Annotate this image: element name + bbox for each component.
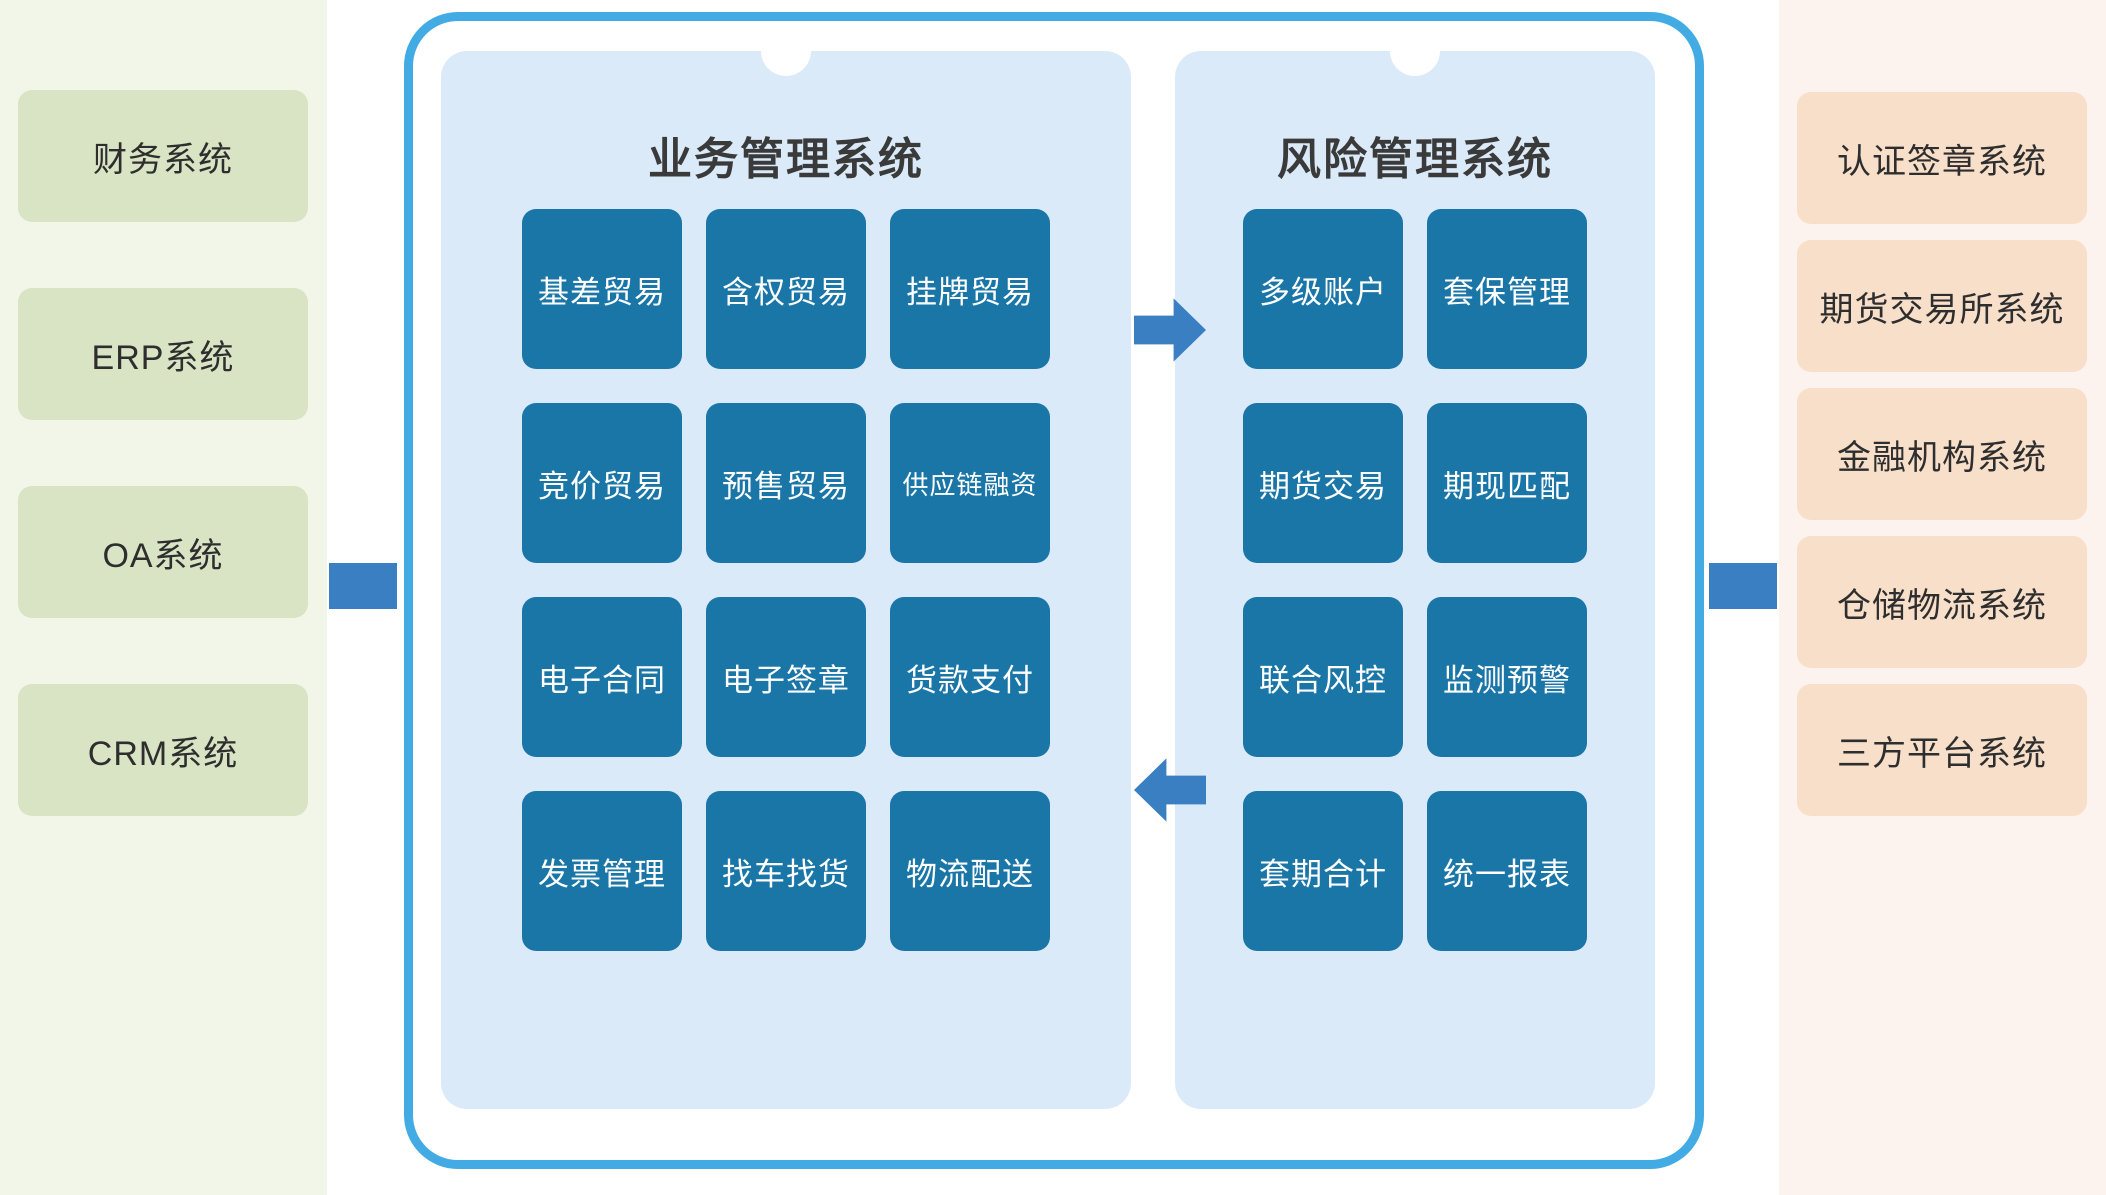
tile-futures-trading[interactable]: 期货交易 xyxy=(1243,403,1403,563)
tile-label: 挂牌贸易 xyxy=(906,267,1034,312)
tile-multi-level-account[interactable]: 多级账户 xyxy=(1243,209,1403,369)
tile-label: 套保管理 xyxy=(1443,267,1571,312)
tile-row: 基差贸易 含权贸易 挂牌贸易 xyxy=(522,209,1050,369)
tile-hedging-management[interactable]: 套保管理 xyxy=(1427,209,1587,369)
tile-basis-trade[interactable]: 基差贸易 xyxy=(522,209,682,369)
tile-label: 联合风控 xyxy=(1259,655,1387,700)
right-card-warehouse-logistics[interactable]: 仓储物流系统 xyxy=(1797,536,2087,668)
right-card-label: 认证签章系统 xyxy=(1837,134,2047,183)
left-card-crm[interactable]: CRM系统 xyxy=(18,684,308,816)
right-card-label: 三方平台系统 xyxy=(1837,726,2047,775)
tile-row: 套期合计 统一报表 xyxy=(1243,791,1587,951)
left-connector-block xyxy=(329,563,397,609)
tile-payment[interactable]: 货款支付 xyxy=(890,597,1050,757)
left-card-label: OA系统 xyxy=(102,528,223,577)
tile-presale-trade[interactable]: 预售贸易 xyxy=(706,403,866,563)
platform-container: 业务管理系统 基差贸易 含权贸易 挂牌贸易 竞价贸易 预售贸易 供应链融资 电子… xyxy=(404,12,1704,1169)
tile-label: 监测预警 xyxy=(1443,655,1571,700)
tile-row: 多级账户 套保管理 xyxy=(1243,209,1587,369)
tile-row: 发票管理 找车找货 物流配送 xyxy=(522,791,1050,951)
tile-logistics-delivery[interactable]: 物流配送 xyxy=(890,791,1050,951)
tile-option-trade[interactable]: 含权贸易 xyxy=(706,209,866,369)
left-card-finance[interactable]: 财务系统 xyxy=(18,90,308,222)
tile-row: 竞价贸易 预售贸易 供应链融资 xyxy=(522,403,1050,563)
tile-listed-trade[interactable]: 挂牌贸易 xyxy=(890,209,1050,369)
diagram-canvas: 财务系统 ERP系统 OA系统 CRM系统 认证签章系统 期货交易所系统 金融机… xyxy=(0,0,2106,1195)
panel-notch-icon xyxy=(761,51,811,76)
tile-e-contract[interactable]: 电子合同 xyxy=(522,597,682,757)
tile-label: 期货交易 xyxy=(1259,461,1387,506)
tile-label: 供应链融资 xyxy=(902,465,1037,502)
risk-management-panel: 风险管理系统 多级账户 套保管理 期货交易 期现匹配 联合风控 监测预警 套期合… xyxy=(1175,51,1655,1109)
tile-label: 发票管理 xyxy=(538,849,666,894)
tile-label: 竞价贸易 xyxy=(538,461,666,506)
tile-hedge-summary[interactable]: 套期合计 xyxy=(1243,791,1403,951)
tile-label: 电子合同 xyxy=(538,655,666,700)
tile-futures-spot-match[interactable]: 期现匹配 xyxy=(1427,403,1587,563)
risk-panel-title: 风险管理系统 xyxy=(1175,123,1655,187)
right-card-label: 期货交易所系统 xyxy=(1820,282,2065,331)
tile-auction-trade[interactable]: 竞价贸易 xyxy=(522,403,682,563)
tile-label: 物流配送 xyxy=(906,849,1034,894)
tile-label: 期现匹配 xyxy=(1443,461,1571,506)
right-card-financial-institution[interactable]: 金融机构系统 xyxy=(1797,388,2087,520)
tile-row: 期货交易 期现匹配 xyxy=(1243,403,1587,563)
right-card-third-party-platform[interactable]: 三方平台系统 xyxy=(1797,684,2087,816)
tile-label: 预售贸易 xyxy=(722,461,850,506)
left-card-label: CRM系统 xyxy=(88,726,238,775)
right-card-futures-exchange[interactable]: 期货交易所系统 xyxy=(1797,240,2087,372)
right-card-label: 仓储物流系统 xyxy=(1837,578,2047,627)
tile-label: 多级账户 xyxy=(1259,267,1387,312)
tile-row: 联合风控 监测预警 xyxy=(1243,597,1587,757)
risk-tile-grid: 多级账户 套保管理 期货交易 期现匹配 联合风控 监测预警 套期合计 统一报表 xyxy=(1175,209,1655,951)
panel-notch-icon xyxy=(1390,51,1440,76)
right-systems-panel: 认证签章系统 期货交易所系统 金融机构系统 仓储物流系统 三方平台系统 xyxy=(1779,0,2106,1195)
tile-label: 含权贸易 xyxy=(722,267,850,312)
tile-row: 电子合同 电子签章 货款支付 xyxy=(522,597,1050,757)
tile-e-signature[interactable]: 电子签章 xyxy=(706,597,866,757)
tile-supply-chain-finance[interactable]: 供应链融资 xyxy=(890,403,1050,563)
tile-label: 套期合计 xyxy=(1259,849,1387,894)
business-panel-title: 业务管理系统 xyxy=(441,123,1131,187)
tile-label: 找车找货 xyxy=(722,849,850,894)
tile-monitoring-alert[interactable]: 监测预警 xyxy=(1427,597,1587,757)
left-card-label: ERP系统 xyxy=(92,330,235,379)
business-tile-grid: 基差贸易 含权贸易 挂牌贸易 竞价贸易 预售贸易 供应链融资 电子合同 电子签章… xyxy=(441,209,1131,951)
right-card-label: 金融机构系统 xyxy=(1837,430,2047,479)
tile-label: 统一报表 xyxy=(1443,849,1571,894)
left-card-oa[interactable]: OA系统 xyxy=(18,486,308,618)
tile-joint-risk-control[interactable]: 联合风控 xyxy=(1243,597,1403,757)
tile-unified-report[interactable]: 统一报表 xyxy=(1427,791,1587,951)
tile-invoice-management[interactable]: 发票管理 xyxy=(522,791,682,951)
tile-label: 电子签章 xyxy=(722,655,850,700)
left-card-erp[interactable]: ERP系统 xyxy=(18,288,308,420)
tile-label: 基差贸易 xyxy=(538,267,666,312)
left-card-label: 财务系统 xyxy=(93,132,233,181)
left-systems-panel: 财务系统 ERP系统 OA系统 CRM系统 xyxy=(0,0,327,1195)
right-connector-block xyxy=(1709,563,1777,609)
business-management-panel: 业务管理系统 基差贸易 含权贸易 挂牌贸易 竞价贸易 预售贸易 供应链融资 电子… xyxy=(441,51,1131,1109)
right-card-certification[interactable]: 认证签章系统 xyxy=(1797,92,2087,224)
tile-find-truck-cargo[interactable]: 找车找货 xyxy=(706,791,866,951)
tile-label: 货款支付 xyxy=(906,655,1034,700)
